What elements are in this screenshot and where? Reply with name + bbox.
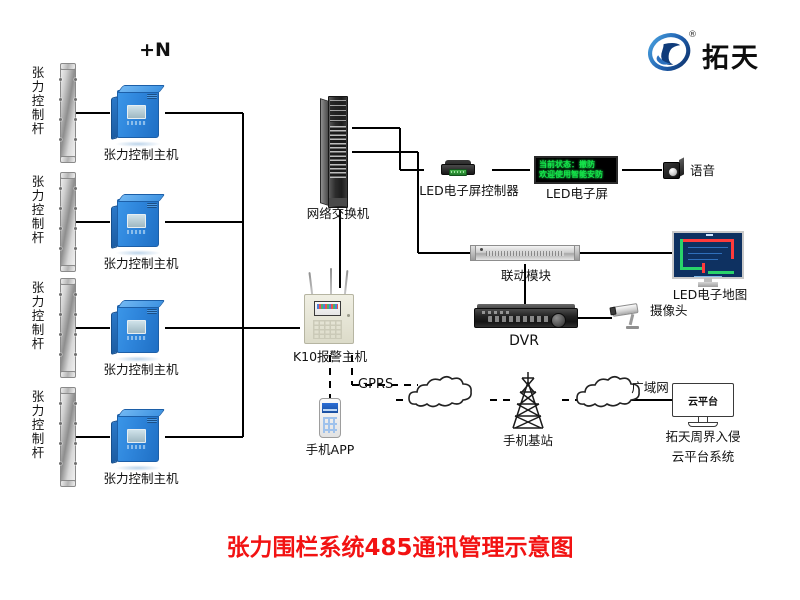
- pole-label-char: 张: [30, 66, 46, 80]
- pole-label-char: 制: [30, 217, 46, 231]
- led-map-label: LED电子地图: [673, 288, 748, 302]
- tension-control-pole: [60, 172, 76, 272]
- tension-control-pole: [60, 278, 76, 378]
- pole-label-char: 杆: [30, 337, 46, 351]
- pole-label-3: 张 力 控 制 杆: [30, 281, 46, 351]
- network-switch-label: 网络交换机: [307, 207, 370, 221]
- pole-label-char: 张: [30, 175, 46, 189]
- mobile-phone-app: [319, 398, 341, 438]
- tension-control-pole: [60, 387, 76, 487]
- pole-label-char: 制: [30, 432, 46, 446]
- tension-host-label-3: 张力控制主机: [103, 363, 178, 377]
- base-station-label: 手机基站: [503, 434, 553, 448]
- pole-label-char: 制: [30, 108, 46, 122]
- plus-n-label: +N: [139, 40, 171, 62]
- pole-label-char: 杆: [30, 122, 46, 136]
- pole-label-1: 张 力 控 制 杆: [30, 66, 46, 136]
- k10-alarm-host: [300, 268, 358, 346]
- tension-host-label-2: 张力控制主机: [103, 257, 178, 271]
- dvr-recorder: [474, 304, 578, 330]
- pole-label-char: 控: [30, 309, 46, 323]
- tension-control-host: [111, 86, 165, 144]
- cloud-platform-label-1: 拓天周界入侵: [665, 430, 740, 444]
- voice-module: [663, 160, 685, 180]
- led-electronic-map: [672, 231, 744, 287]
- camera-label: 摄像头: [650, 304, 688, 318]
- pole-label-char: 力: [30, 404, 46, 418]
- led-screen-line-1: 当前状态：撤防: [539, 160, 595, 170]
- led-controller-label: LED电子屏控制器: [419, 184, 519, 198]
- tension-host-label-4: 张力控制主机: [103, 472, 178, 486]
- k10-label: K10报警主机: [293, 350, 367, 364]
- pole-label-char: 张: [30, 281, 46, 295]
- pole-label-char: 控: [30, 418, 46, 432]
- gprs-label: GPRS: [358, 378, 393, 393]
- tension-control-host: [111, 195, 165, 253]
- brand-name: 拓天: [702, 36, 760, 75]
- pole-label-2: 张 力 控 制 杆: [30, 175, 46, 245]
- network-switch: [320, 96, 354, 208]
- pole-label-4: 张 力 控 制 杆: [30, 390, 46, 460]
- pole-label-char: 控: [30, 94, 46, 108]
- dvr-label: DVR: [509, 333, 539, 349]
- led-electronic-screen: 当前状态：撤防 欢迎使用智能安防: [534, 156, 618, 184]
- led-screen-controller: [438, 160, 478, 178]
- registered-mark: ®: [688, 30, 697, 40]
- tension-control-host: [111, 301, 165, 359]
- tension-control-host: [111, 410, 165, 468]
- wan-label: 广域网: [631, 381, 669, 395]
- phone-app-label: 手机APP: [306, 443, 355, 457]
- led-screen-label: LED电子屏: [546, 187, 608, 201]
- cloud-platform-screen-text: 云平台: [688, 393, 718, 408]
- brand-logo: ® 拓天: [648, 30, 788, 80]
- voice-label: 语音: [690, 164, 715, 178]
- camera: [610, 303, 648, 329]
- tower-lines: [513, 372, 543, 428]
- tension-host-label-1: 张力控制主机: [103, 148, 178, 162]
- linkage-module: [470, 242, 580, 264]
- diagram-title: 张力围栏系统485通讯管理示意图: [226, 528, 573, 562]
- pole-label-char: 力: [30, 295, 46, 309]
- cloud-platform-monitor: 云平台: [672, 383, 734, 429]
- pole-label-char: 杆: [30, 231, 46, 245]
- pole-label-char: 力: [30, 80, 46, 94]
- pole-label-char: 制: [30, 323, 46, 337]
- linkage-module-label: 联动模块: [501, 269, 551, 283]
- pole-label-char: 力: [30, 189, 46, 203]
- pole-label-char: 杆: [30, 446, 46, 460]
- tension-control-pole: [60, 63, 76, 163]
- cloud-platform-label-2: 云平台系统: [672, 450, 735, 464]
- pole-label-char: 控: [30, 203, 46, 217]
- pole-label-char: 张: [30, 390, 46, 404]
- diagram-canvas: 张 力 控 制 杆 张 力 控 制 杆 张 力 控 制 杆: [0, 0, 800, 600]
- led-screen-line-2: 欢迎使用智能安防: [539, 170, 603, 180]
